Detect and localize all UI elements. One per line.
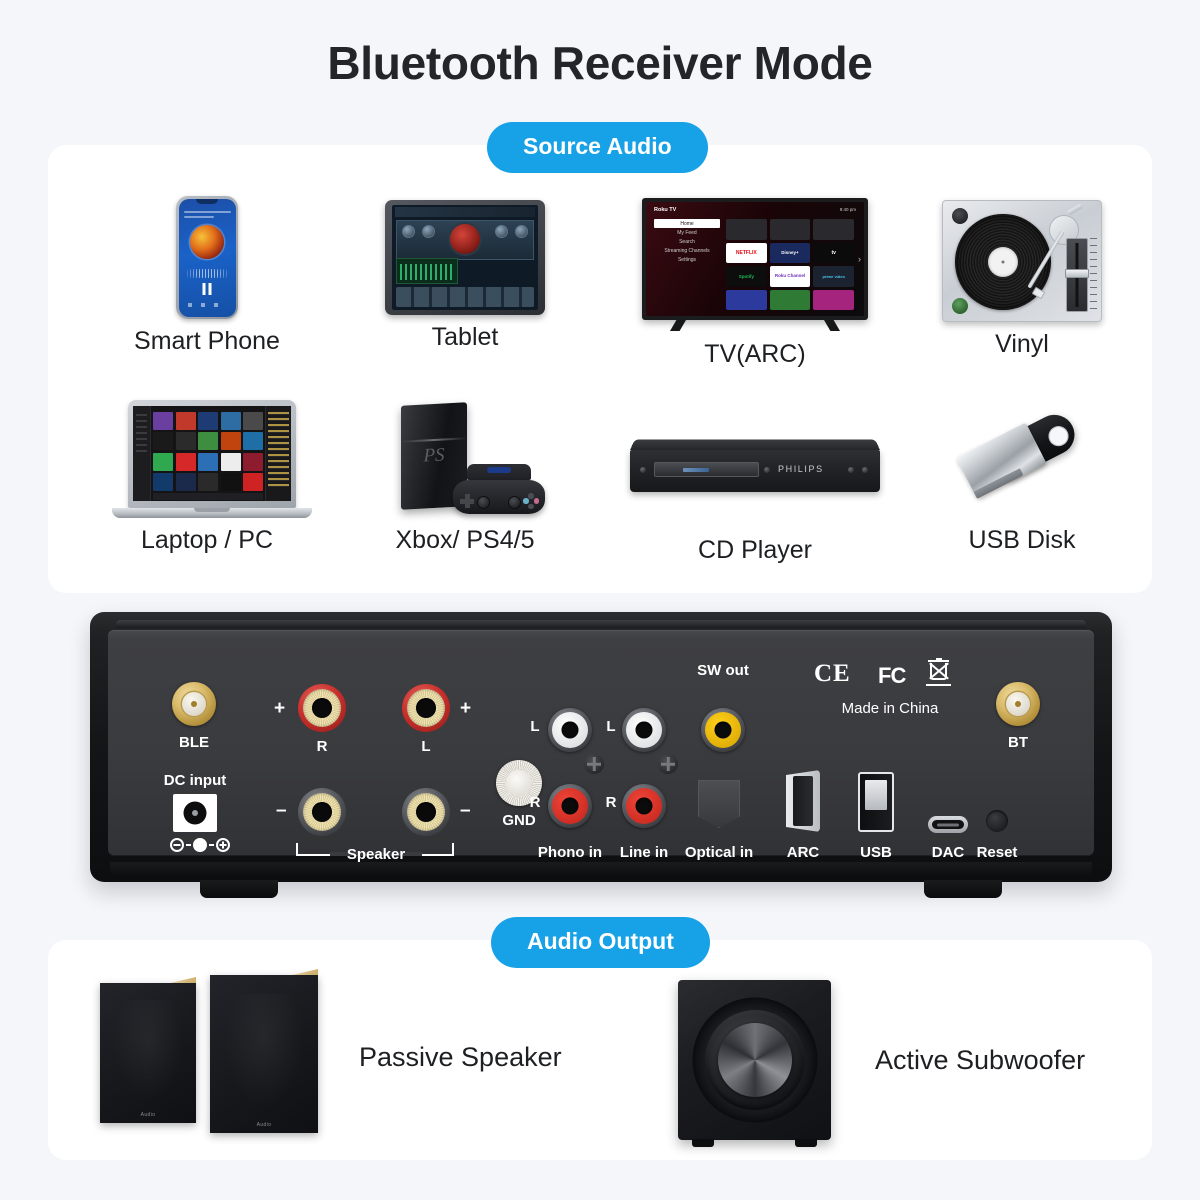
tv-menu-item: Streaming Channels xyxy=(654,247,720,256)
port-bt-antenna[interactable] xyxy=(996,682,1040,726)
page-title: Bluetooth Receiver Mode xyxy=(0,36,1200,90)
tv-app-tile: NETFLIX xyxy=(726,243,767,264)
smartphone-icon xyxy=(112,196,302,319)
tv-app-tile: prime video xyxy=(813,266,854,287)
port-bt-label: BT xyxy=(994,734,1042,751)
source-item-label: TV(ARC) xyxy=(642,340,868,369)
subwoofer-icon xyxy=(678,980,831,1140)
speaker-r-plus-symbol: + xyxy=(274,698,285,720)
source-item-usb-disk[interactable]: USB Disk xyxy=(927,400,1117,555)
tv-device-tile xyxy=(726,219,767,240)
port-line-in-left[interactable] xyxy=(622,708,666,752)
source-item-game-console[interactable]: PS Xbox/ PS4/5 xyxy=(370,398,560,555)
source-audio-badge: Source Audio xyxy=(487,122,708,173)
port-optical-in-label: Optical in xyxy=(672,844,766,861)
tv-app-tile xyxy=(813,290,854,311)
source-item-label: Smart Phone xyxy=(112,327,302,356)
port-speaker-l-positive[interactable] xyxy=(402,684,450,732)
port-speaker-r-label: R xyxy=(298,738,346,755)
tv-icon: Roku TV 9:40 pm Home My Feed Search Stre… xyxy=(642,198,868,332)
port-ground-label: GND xyxy=(494,812,544,829)
reset-label: Reset xyxy=(964,844,1030,861)
port-dc-input-label: DC input xyxy=(160,772,230,789)
tv-menu-item: Settings xyxy=(654,256,720,265)
speaker-l-minus-symbol: – xyxy=(460,800,471,822)
source-item-laptop[interactable]: Laptop / PC xyxy=(112,400,302,555)
output-item-label: Active Subwoofer xyxy=(875,1045,1085,1076)
audio-output-badge: Audio Output xyxy=(491,917,710,968)
source-item-label: USB Disk xyxy=(927,526,1117,555)
source-item-label: Laptop / PC xyxy=(112,526,302,555)
output-item-label: Passive Speaker xyxy=(359,1042,562,1073)
port-ble-antenna[interactable] xyxy=(172,682,216,726)
source-item-tablet[interactable]: Tablet xyxy=(370,200,560,352)
tv-menu-item: Search xyxy=(654,237,720,246)
port-speaker-r-negative[interactable] xyxy=(298,788,346,836)
bookshelf-speakers-icon: Audio Audio xyxy=(100,975,315,1140)
source-item-smart-phone[interactable]: Smart Phone xyxy=(112,196,302,356)
laptop-icon xyxy=(112,400,312,518)
tablet-icon xyxy=(370,200,560,315)
cd-player-icon: PHILIPS xyxy=(630,438,880,492)
source-item-label: Tablet xyxy=(370,323,560,352)
source-item-tv[interactable]: Roku TV 9:40 pm Home My Feed Search Stre… xyxy=(642,198,868,369)
cd-player-brand-label: PHILIPS xyxy=(778,464,824,474)
tv-device-tile xyxy=(770,219,811,240)
tv-app-tile: Spotify xyxy=(726,266,767,287)
port-speaker-l-negative[interactable] xyxy=(402,788,450,836)
tv-app-tile xyxy=(770,290,811,311)
phono-left-channel-label: L xyxy=(528,718,542,735)
turntable-icon xyxy=(927,200,1117,322)
port-arc-label: ARC xyxy=(768,844,838,861)
speaker-group-label: Speaker xyxy=(330,846,422,863)
source-item-vinyl[interactable]: Vinyl xyxy=(927,200,1117,359)
port-speaker-l-label: L xyxy=(402,738,450,755)
port-usb-label: USB xyxy=(841,844,911,861)
port-phono-in-left[interactable] xyxy=(548,708,592,752)
tv-app-grid: NETFLIX Disney+ tv Spotify Roku Channel … xyxy=(726,219,854,310)
tv-app-tile: tv xyxy=(813,243,854,264)
line-left-channel-label: L xyxy=(604,718,618,735)
port-dac-usb-c[interactable] xyxy=(928,816,968,833)
ce-mark-icon: CE xyxy=(814,660,851,688)
amplifier-rear-panel: BLE DC input + R + L – – Speaker xyxy=(90,612,1112,882)
made-in-label: Made in China xyxy=(800,700,980,717)
speaker-l-plus-symbol: + xyxy=(460,698,471,720)
dc-polarity-icon xyxy=(170,838,230,852)
port-sw-out[interactable] xyxy=(701,708,745,752)
output-item-active-subwoofer[interactable]: Active Subwoofer xyxy=(678,980,1085,1140)
speaker-r-minus-symbol: – xyxy=(276,800,287,822)
chevron-right-icon: › xyxy=(858,254,861,264)
tv-brand-label: Roku TV xyxy=(654,207,676,213)
usb-flash-drive-icon xyxy=(955,400,1090,518)
tv-app-tile: Roku Channel xyxy=(770,266,811,287)
tv-clock-label: 9:40 pm xyxy=(840,207,856,212)
port-usb-a[interactable] xyxy=(858,772,894,832)
port-line-in-right[interactable] xyxy=(622,784,666,828)
port-phono-in-right[interactable] xyxy=(548,784,592,828)
port-sw-out-label: SW out xyxy=(678,662,768,679)
port-ble-label: BLE xyxy=(172,734,216,751)
fcc-mark-icon: FC xyxy=(878,663,905,689)
output-item-passive-speaker[interactable]: Audio Audio Passive Speaker xyxy=(100,975,562,1140)
tv-device-tile xyxy=(813,219,854,240)
source-item-label: Vinyl xyxy=(927,330,1117,359)
game-console-icon: PS xyxy=(385,398,545,518)
port-arc-hdmi[interactable] xyxy=(786,770,820,832)
source-item-label: Xbox/ PS4/5 xyxy=(370,526,560,555)
tv-app-tile xyxy=(726,290,767,311)
tv-menu: Home My Feed Search Streaming Channels S… xyxy=(654,219,720,265)
port-optical-in[interactable] xyxy=(698,780,740,828)
source-item-label: CD Player xyxy=(630,536,880,565)
tv-stand xyxy=(642,320,868,332)
tv-app-tile: Disney+ xyxy=(770,243,811,264)
panel-screw-icon xyxy=(584,754,604,774)
port-dc-input[interactable] xyxy=(173,794,217,832)
weee-mark-icon xyxy=(926,658,952,686)
chassis-foot xyxy=(924,880,1002,898)
source-item-cd-player[interactable]: PHILIPS CD Player xyxy=(630,438,880,565)
line-right-channel-label: R xyxy=(604,794,618,811)
tv-menu-item: My Feed xyxy=(654,228,720,237)
chassis-foot xyxy=(200,880,278,898)
rear-panel-face: BLE DC input + R + L – – Speaker xyxy=(108,630,1094,856)
reset-button[interactable] xyxy=(986,810,1008,832)
tv-menu-item: Home xyxy=(654,219,720,228)
port-speaker-r-positive[interactable] xyxy=(298,684,346,732)
phono-right-channel-label: R xyxy=(528,794,542,811)
panel-screw-icon xyxy=(658,754,678,774)
infographic-page: Bluetooth Receiver Mode Source Audio Sma… xyxy=(0,0,1200,1200)
